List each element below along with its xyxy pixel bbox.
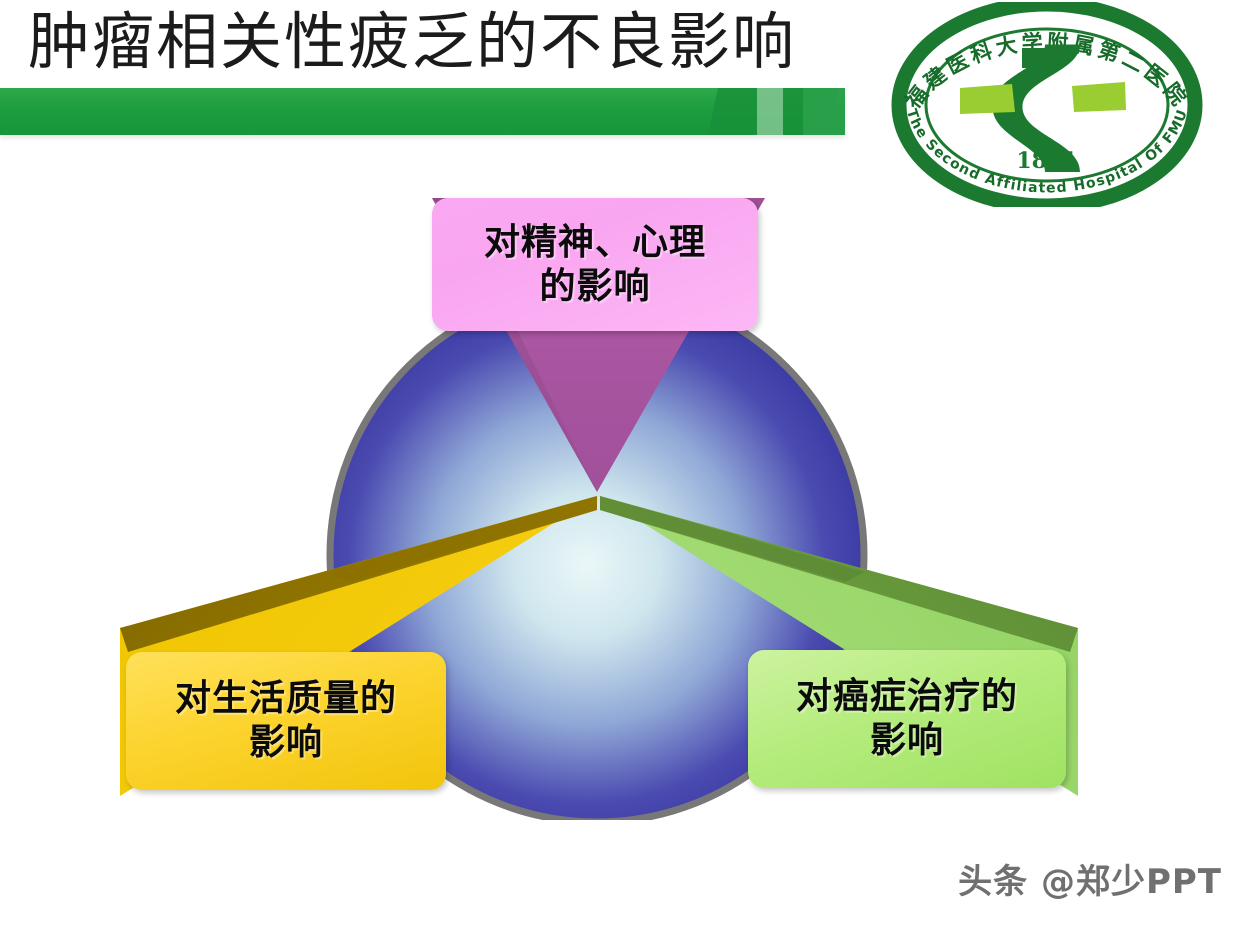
- label-box-quality-of-life[interactable]: 对生活质量的 影响: [126, 652, 446, 790]
- bar-accent-stripe-c: [803, 88, 845, 135]
- label-top-line1: 对精神、心理: [484, 221, 706, 265]
- title-underline-bar: [0, 88, 845, 135]
- watermark-text: 头条 @郑少PPT: [958, 854, 1222, 903]
- label-top-text: 对精神、心理 的影响: [484, 221, 706, 309]
- logo-year: 1881: [1016, 148, 1077, 174]
- label-right-line1: 对癌症治疗的: [796, 675, 1018, 719]
- label-left-line2: 影响: [175, 721, 397, 765]
- label-box-mental-psychological[interactable]: 对精神、心理 的影响: [432, 198, 758, 331]
- slide-canvas: 肿瘤相关性疲乏的不良影响 福建医科大学附属第二医院 The Second Aff…: [0, 0, 1240, 931]
- hospital-logo: 福建医科大学附属第二医院 The Second Affiliated Hospi…: [872, 2, 1222, 207]
- label-left-text: 对生活质量的 影响: [175, 677, 397, 765]
- label-right-text: 对癌症治疗的 影响: [796, 675, 1018, 763]
- label-right-line2: 影响: [796, 719, 1018, 763]
- label-box-cancer-treatment[interactable]: 对癌症治疗的 影响: [748, 650, 1066, 788]
- label-left-line1: 对生活质量的: [175, 677, 397, 721]
- label-top-line2: 的影响: [484, 265, 706, 309]
- bar-accent-stripe-b: [757, 88, 783, 135]
- page-title: 肿瘤相关性疲乏的不良影响: [28, 2, 868, 84]
